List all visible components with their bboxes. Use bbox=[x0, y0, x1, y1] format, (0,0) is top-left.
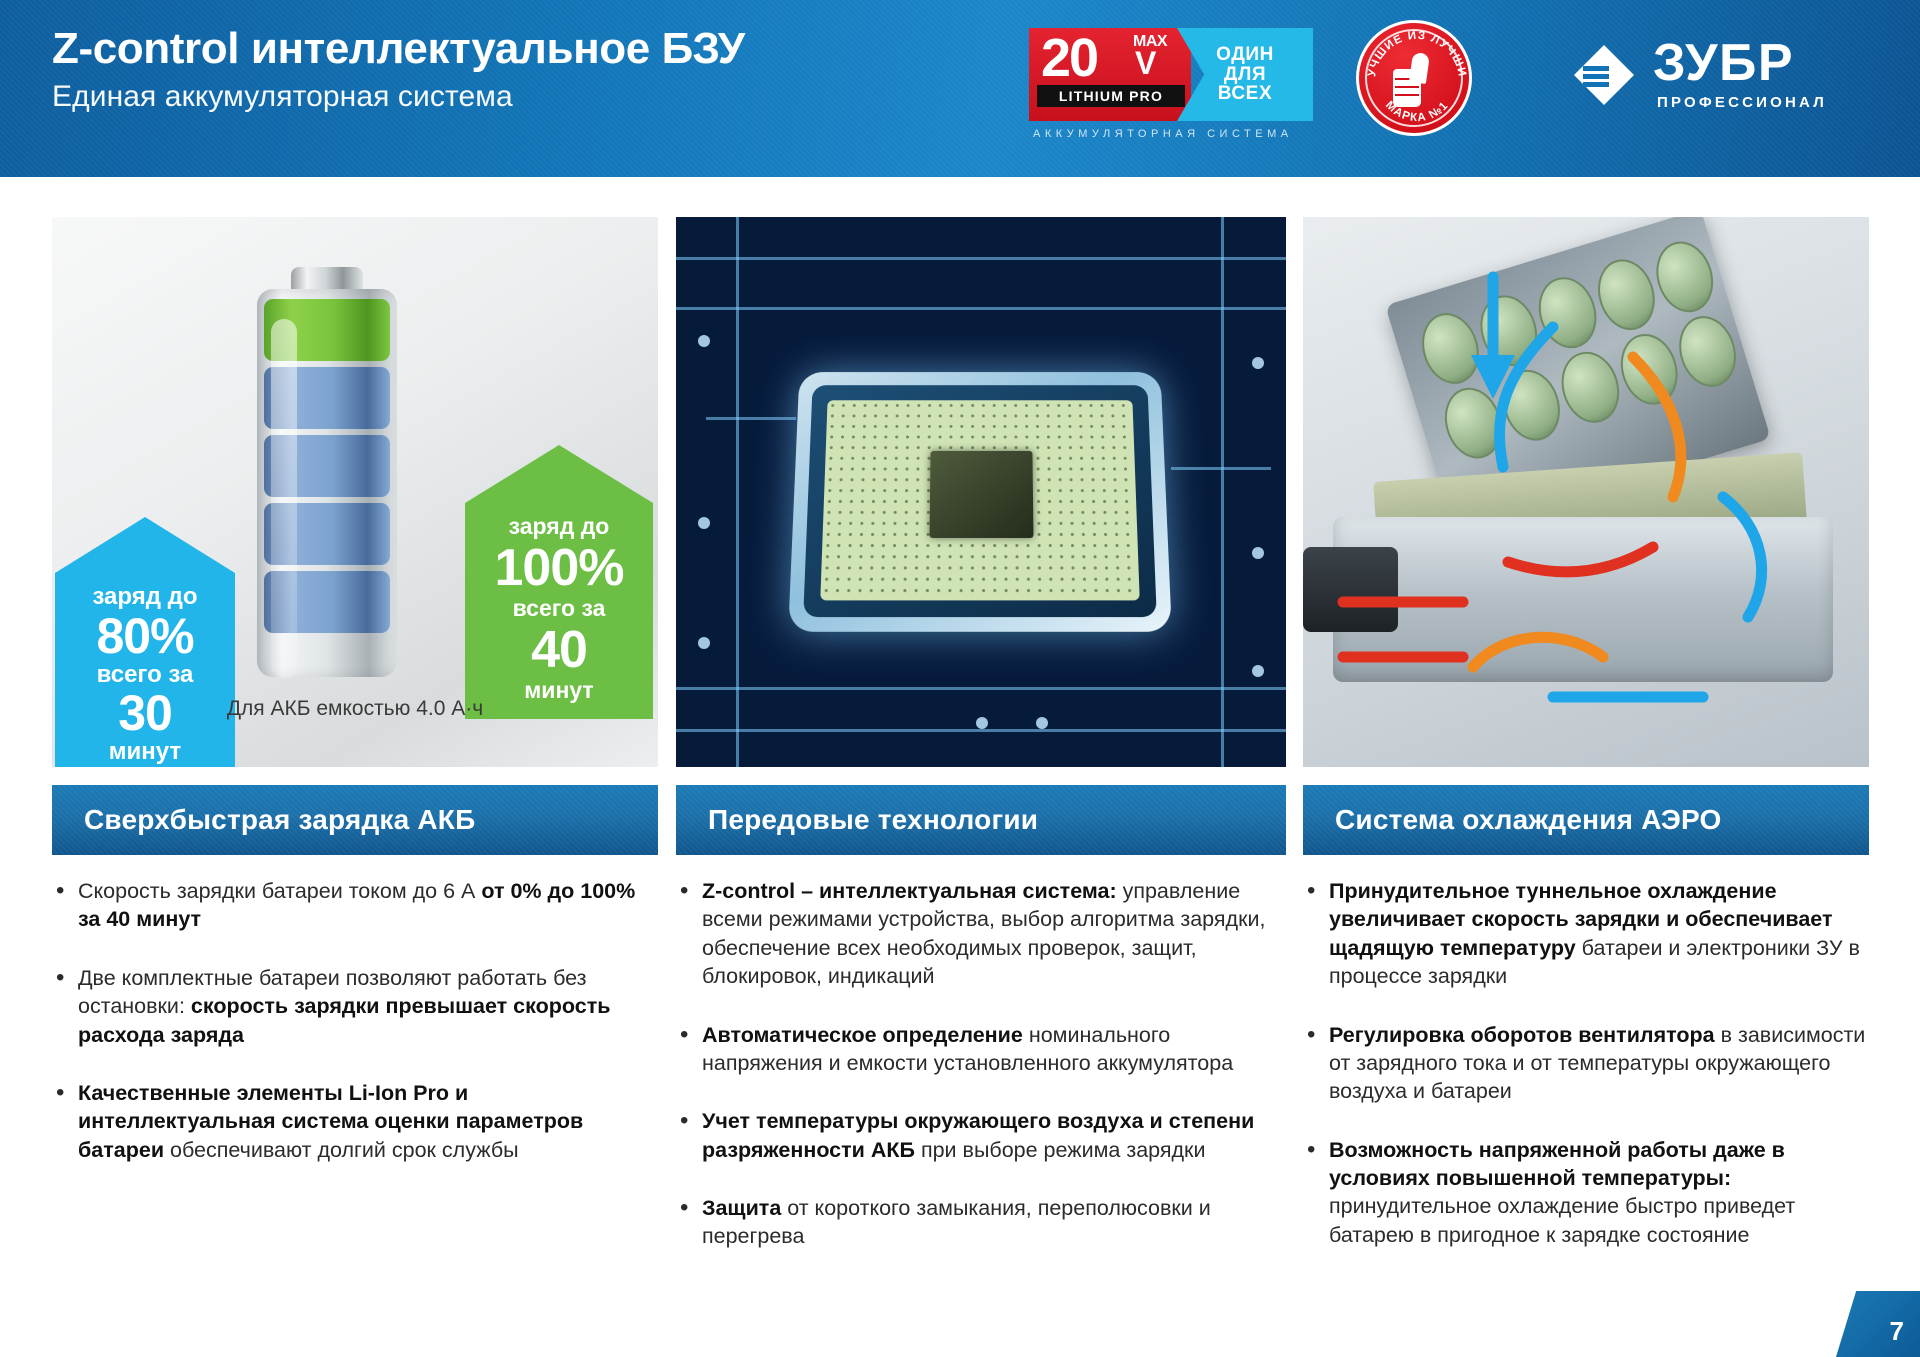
one-for-all-badge: ОДИН ДЛЯ ВСЕХ bbox=[1177, 28, 1313, 121]
zubr-mark-icon bbox=[1573, 44, 1635, 106]
badge-for-label: ДЛЯ bbox=[1224, 65, 1266, 85]
voltage-v-label: V bbox=[1135, 50, 1167, 77]
bullet-text-bold: Защита bbox=[702, 1196, 787, 1220]
bullet-text-bold: Z-control – интеллектуальная система: bbox=[702, 879, 1123, 903]
bullet-text: при выборе режима зарядки bbox=[921, 1138, 1206, 1162]
arrow-head-icon bbox=[55, 517, 235, 573]
airflow-arrows-icon bbox=[1303, 217, 1869, 767]
lithium-pro-label: LITHIUM PRO bbox=[1059, 88, 1163, 104]
bullet-text-bold: Регулировка оборотов вентилятора bbox=[1329, 1023, 1721, 1047]
section-title-3: Система охлаждения АЭРО bbox=[1303, 804, 1722, 836]
voltage-value: 20 bbox=[1041, 31, 1097, 85]
section-column-1: Скорость зарядки батареи током до 6 А от… bbox=[52, 877, 642, 1194]
chip-frame bbox=[803, 385, 1157, 617]
bullet-list-2: Z-control – интеллектуальная система: уп… bbox=[676, 877, 1276, 1251]
section-title-bar-2: Передовые технологии bbox=[676, 785, 1286, 855]
section-column-2: Z-control – интеллектуальная система: уп… bbox=[676, 877, 1276, 1281]
battery-graphic bbox=[257, 267, 397, 677]
charge-80-label3: минут bbox=[55, 738, 235, 766]
charge-80-arrow: заряд до 80% всего за 30 минут bbox=[55, 517, 235, 767]
battery-illustration: заряд до 80% всего за 30 минут заряд до … bbox=[52, 217, 658, 767]
bullet-text-bold: Автоматическое определение bbox=[702, 1023, 1029, 1047]
circuit-board-illustration bbox=[676, 217, 1286, 767]
voltage-badge: 20 MAX V LITHIUM PRO ОДИН ДЛЯ ВСЕХ АККУМ… bbox=[1029, 28, 1314, 128]
bullet-item: Защита от короткого замыкания, переполюс… bbox=[676, 1194, 1276, 1251]
charge-100-label1: заряд до bbox=[465, 513, 653, 541]
battery-capacity-caption: Для АКБ емкостью 4.0 А·ч bbox=[52, 697, 658, 721]
badge-one-label: ОДИН bbox=[1216, 45, 1274, 65]
chip-core bbox=[930, 451, 1034, 539]
section-title-bar-1: Сверхбыстрая зарядка АКБ bbox=[52, 785, 658, 855]
battery-system-caption: АККУМУЛЯТОРНАЯ СИСТЕМА bbox=[1033, 128, 1293, 140]
illustration-row: заряд до 80% всего за 30 минут заряд до … bbox=[52, 217, 1869, 767]
section-title-2: Передовые технологии bbox=[676, 804, 1038, 836]
chip-package bbox=[788, 372, 1172, 632]
pcb-graphic bbox=[676, 217, 1286, 767]
badge-all-label: ВСЕХ bbox=[1218, 84, 1272, 104]
cooling-system-illustration bbox=[1303, 217, 1869, 767]
bullet-item: Две комплектные батареи позволяют работа… bbox=[52, 964, 642, 1049]
battery-gloss bbox=[271, 319, 297, 679]
bullet-list-1: Скорость зарядки батареи током до 6 А от… bbox=[52, 877, 642, 1164]
battery-body bbox=[257, 289, 397, 677]
section-title-bars: Сверхбыстрая зарядка АКБ Передовые техно… bbox=[52, 785, 1869, 855]
bullet-item: Регулировка оборотов вентилятора в завис… bbox=[1303, 1021, 1883, 1106]
section-column-3: Принудительное туннельное охлаждение уве… bbox=[1303, 877, 1883, 1279]
brand-name: ЗУБР bbox=[1653, 36, 1794, 91]
arrow-shaft: заряд до 80% всего за 30 минут bbox=[55, 573, 235, 767]
brand-logo: ЗУБР ПРОФЕССИОНАЛ bbox=[1573, 36, 1873, 122]
charge-80-label1: заряд до bbox=[55, 583, 235, 611]
charge-80-value: 80% bbox=[55, 611, 235, 661]
charge-100-label2: всего за bbox=[465, 595, 653, 623]
charge-100-minutes: 40 bbox=[465, 623, 653, 678]
charge-100-arrow: заряд до 100% всего за 40 минут bbox=[465, 445, 653, 719]
bullet-item: Автоматическое определение номинального … bbox=[676, 1021, 1276, 1078]
page-number: 7 bbox=[1836, 1291, 1920, 1357]
voltage-badge-red-part: 20 MAX V bbox=[1029, 28, 1191, 121]
charge-100-value: 100% bbox=[465, 541, 653, 596]
bullet-item: Скорость зарядки батареи током до 6 А от… bbox=[52, 877, 642, 934]
page-header: Z-control интеллектуальное БЗУ Единая ак… bbox=[0, 0, 1920, 177]
section-title-bar-3: Система охлаждения АЭРО bbox=[1303, 785, 1869, 855]
page-subtitle: Единая аккумуляторная система bbox=[52, 80, 745, 114]
voltage-unit-group: MAX V bbox=[1133, 34, 1167, 77]
quality-stamp-icon: ЛУЧШИЕ ИЗ ЛУЧШИХ МАРКА №1 bbox=[1356, 20, 1472, 136]
page-content: заряд до 80% всего за 30 минут заряд до … bbox=[0, 177, 1920, 1357]
bullet-text: обеспечивают долгий срок службы bbox=[170, 1138, 519, 1162]
header-titles: Z-control интеллектуальное БЗУ Единая ак… bbox=[52, 26, 745, 114]
bullet-item: Z-control – интеллектуальная система: уп… bbox=[676, 877, 1276, 991]
bullet-text: принудительное охлаждение быстро приведе… bbox=[1329, 1194, 1795, 1246]
arrow-shaft: заряд до 100% всего за 40 минут bbox=[465, 503, 653, 719]
bullet-text: Скорость зарядки батареи током до 6 А bbox=[78, 879, 481, 903]
cooling-graphic bbox=[1303, 217, 1869, 767]
bullet-list-3: Принудительное туннельное охлаждение уве… bbox=[1303, 877, 1883, 1249]
section-title-1: Сверхбыстрая зарядка АКБ bbox=[52, 804, 475, 836]
bullet-item: Качественные элементы Li-Ion Pro и интел… bbox=[52, 1079, 642, 1164]
brand-tagline: ПРОФЕССИОНАЛ bbox=[1657, 94, 1827, 111]
bullet-text-bold: Возможность напряженной работы даже в ус… bbox=[1329, 1138, 1785, 1190]
arrow-head-icon bbox=[465, 445, 653, 503]
thumbs-up-icon bbox=[1393, 53, 1441, 109]
slide-page: Z-control интеллектуальное БЗУ Единая ак… bbox=[0, 0, 1920, 1357]
bullet-item: Принудительное туннельное охлаждение уве… bbox=[1303, 877, 1883, 991]
bullet-item: Возможность напряженной работы даже в ус… bbox=[1303, 1136, 1883, 1250]
page-title: Z-control интеллектуальное БЗУ bbox=[52, 26, 745, 72]
lithium-pro-strip: LITHIUM PRO bbox=[1037, 85, 1185, 107]
chip-die bbox=[820, 400, 1139, 600]
charge-80-label2: всего за bbox=[55, 661, 235, 689]
bullet-item: Учет температуры окружающего воздуха и с… bbox=[676, 1107, 1276, 1164]
